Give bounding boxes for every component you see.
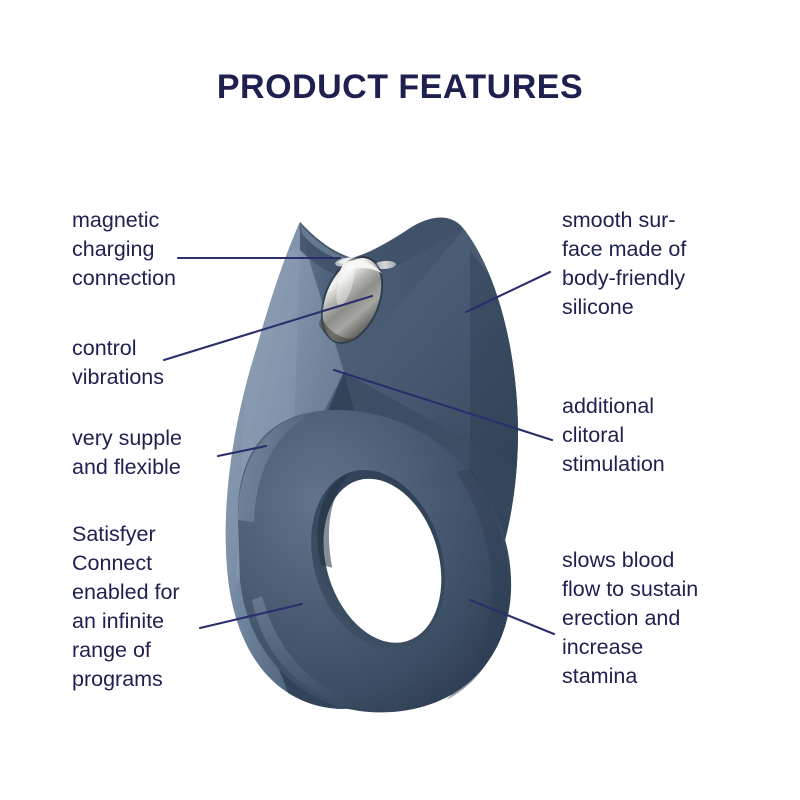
feature-label-additional-clitoral: additional clitoral stimulation [562,392,772,479]
feature-label-control-vibrations: control vibrations [72,334,272,392]
feature-label-smooth-surface: smooth sur- face made of body-friendly s… [562,206,772,322]
feature-label-very-supple: very supple and flexible [72,424,282,482]
feature-label-magnetic-charging: magnetic charging connection [72,206,272,293]
product-features-infographic: PRODUCT FEATURES [0,0,800,800]
feature-label-satisfyer-connect: Satisfyer Connect enabled for an infinit… [72,520,262,694]
feature-label-slows-blood-flow: slows blood flow to sustain erection and… [562,546,777,691]
